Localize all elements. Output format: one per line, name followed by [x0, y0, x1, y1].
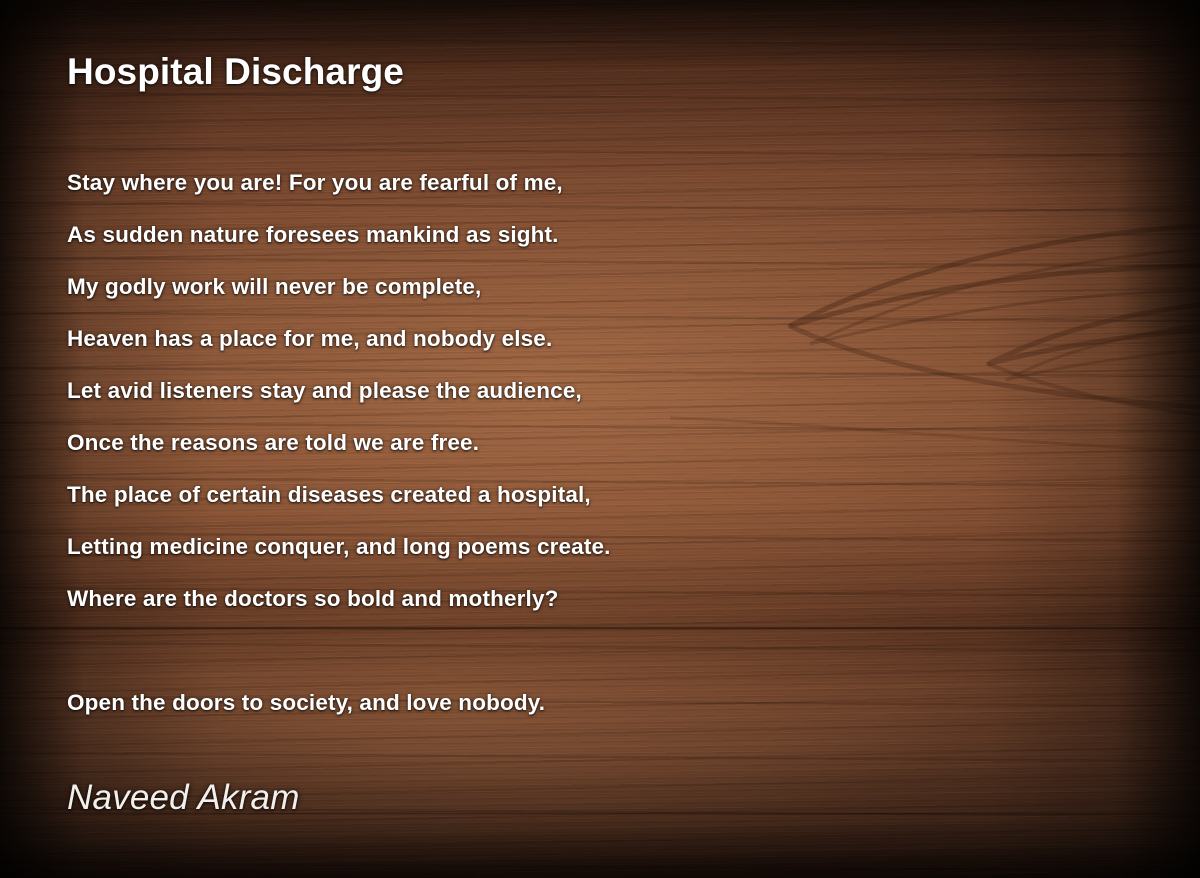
- poem-author: Naveed Akram: [67, 776, 300, 820]
- poem-body: Stay where you are! For you are fearful …: [67, 157, 1147, 729]
- poem-content: Hospital Discharge Stay where you are! F…: [0, 0, 1200, 878]
- poem-line: Once the reasons are told we are free.: [67, 417, 1147, 469]
- poem-line: Stay where you are! For you are fearful …: [67, 157, 1147, 209]
- poem-line: Heaven has a place for me, and nobody el…: [67, 313, 1147, 365]
- page-title: Hospital Discharge: [67, 50, 404, 94]
- poem-line: Where are the doctors so bold and mother…: [67, 573, 1147, 625]
- poem-line: The place of certain diseases created a …: [67, 469, 1147, 521]
- poem-line: Letting medicine conquer, and long poems…: [67, 521, 1147, 573]
- poem-line: As sudden nature foresees mankind as sig…: [67, 209, 1147, 261]
- poem-line: My godly work will never be complete,: [67, 261, 1147, 313]
- poem-line: Open the doors to society, and love nobo…: [67, 677, 1147, 729]
- poem-card: Hospital Discharge Stay where you are! F…: [0, 0, 1200, 878]
- poem-line-blank: [67, 625, 1147, 677]
- poem-line: Let avid listeners stay and please the a…: [67, 365, 1147, 417]
